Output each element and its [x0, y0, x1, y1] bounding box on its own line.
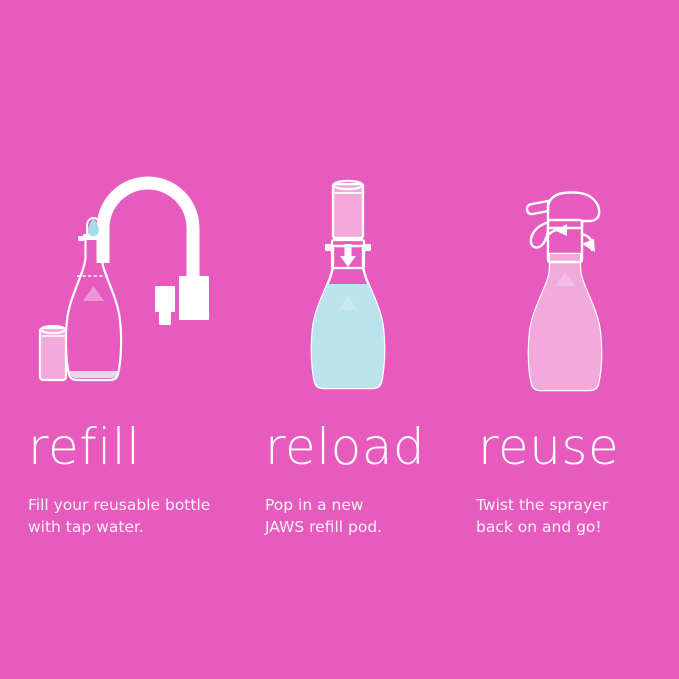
caption-reload: Pop in a new JAWS refill pod. [265, 494, 455, 538]
caption-reuse: Twist the sprayer back on and go! [476, 494, 661, 538]
caption-refill: Fill your reusable bottle with tap water… [28, 494, 238, 538]
bottle-neck-collar [325, 240, 371, 268]
spray-bottle-body-icon [520, 254, 616, 394]
illustration-reuse [478, 168, 658, 400]
refill-pod-vial-icon [40, 326, 66, 380]
captions-row: Fill your reusable bottle with tap water… [0, 494, 679, 554]
down-arrow-icon [340, 244, 356, 267]
poster-canvas: refill reload reuse Fill your reusable b… [0, 0, 679, 679]
heading-reload: reload [265, 418, 425, 476]
triangle-logo-icon [83, 286, 104, 301]
refill-pod-icon [333, 181, 363, 238]
heading-refill: refill [28, 418, 141, 476]
twist-arrow-right-icon [582, 234, 595, 252]
illustration-refill [18, 168, 244, 400]
headings-row: refill reload reuse [0, 418, 679, 480]
illustration-row [0, 168, 679, 400]
kitchen-faucet-icon [103, 183, 209, 325]
reusable-bottle-icon [66, 218, 121, 380]
heading-reuse: reuse [478, 418, 619, 476]
illustration-reload [268, 168, 428, 400]
